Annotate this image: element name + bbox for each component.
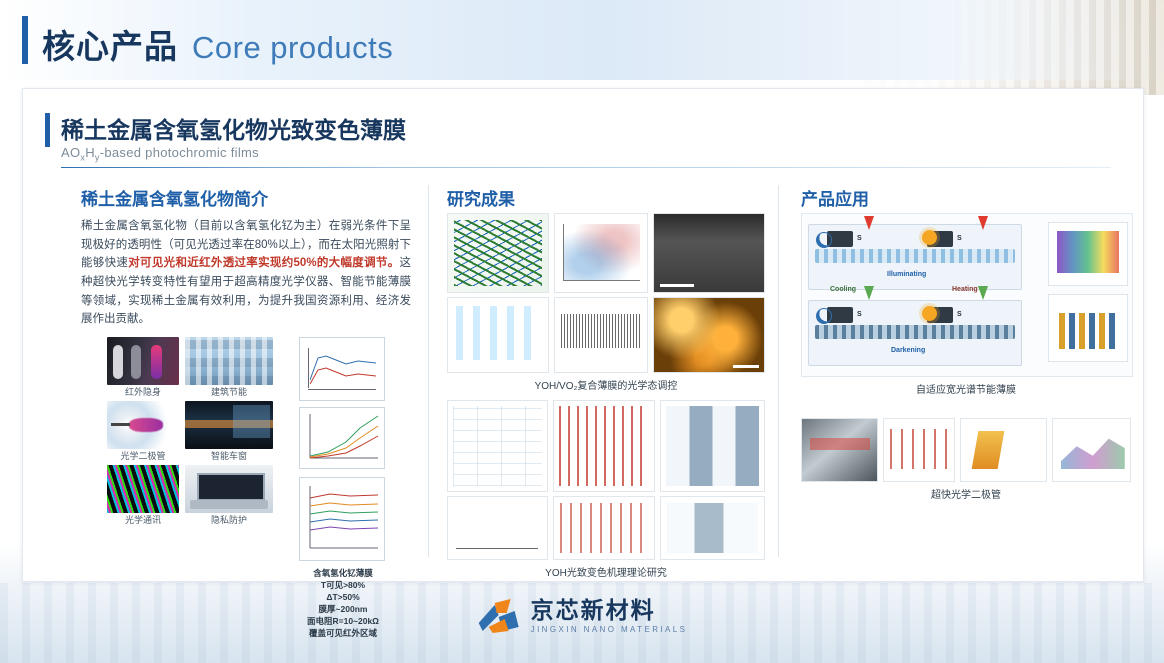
figure-transient-curves xyxy=(883,418,955,482)
mini-bar-chart xyxy=(1048,294,1128,362)
film-layer xyxy=(815,325,1015,339)
cooling-arrow-icon xyxy=(864,286,874,300)
gallery-item-privacy-protection: 隐私防护 xyxy=(185,465,273,527)
figure-afm-topography xyxy=(653,297,765,373)
application-caption-top: 自适应宽光谱节能薄膜 xyxy=(801,381,1131,396)
logo-mark-icon xyxy=(477,597,521,635)
application-figures: S S Illuminating S S Darkening xyxy=(801,213,1131,501)
gallery-caption: 光学通讯 xyxy=(107,513,179,527)
figure-uv-vis-spectra xyxy=(554,213,648,293)
logo-name-en: JINGXIN NANO MATERIALS xyxy=(531,625,688,634)
iv-curve-svg xyxy=(300,408,384,468)
gallery-caption: 红外隐身 xyxy=(107,385,179,399)
figure-band-structure-panels xyxy=(447,400,548,492)
gallery-item-optical-diode: 光学二极管 xyxy=(107,401,179,463)
multi-curve-chart xyxy=(299,477,385,561)
research-caption-top: YOH/VO₂复合薄膜的光学态调控 xyxy=(447,377,765,392)
figure-cycling-stability xyxy=(447,297,549,373)
research-row-3 xyxy=(447,400,765,492)
film-state-label-darkening: Darkening xyxy=(891,347,925,354)
gallery-row-3: 光学通讯 隐私防护 xyxy=(107,465,292,527)
moon-icon xyxy=(816,308,832,324)
film-chip-label-right: S xyxy=(957,311,962,318)
film-state-illuminating: S S Illuminating xyxy=(808,224,1022,290)
sun-icon xyxy=(922,230,937,245)
cooling-arrow-icon xyxy=(978,286,988,300)
figure-charge-density-maps xyxy=(660,400,765,492)
smart-car-window-image xyxy=(185,401,273,449)
card-divider xyxy=(61,167,1111,168)
film-chip-label-right: S xyxy=(957,235,962,242)
intro-paragraph-highlight: 对可见光和近红外透过率实现约50%的大幅度调节。 xyxy=(128,257,399,269)
gallery-caption: 智能车窗 xyxy=(185,449,273,463)
application-caption-bottom: 超快光学二极管 xyxy=(801,486,1131,501)
figure-absorption-asymmetry-diagram xyxy=(960,418,1047,482)
gallery-row-1: 红外隐身 建筑节能 xyxy=(107,337,292,399)
multi-curve-svg xyxy=(300,478,384,560)
section-title-research: 研究成果 xyxy=(447,185,515,210)
gallery-item-smart-car-window: 智能车窗 xyxy=(185,401,273,463)
moon-icon xyxy=(816,232,832,248)
gallery-item-building-energy-saving: 建筑节能 xyxy=(185,337,273,399)
application-gallery: 红外隐身 建筑节能 光学二极管 智能车窗 xyxy=(107,337,292,529)
privacy-protection-image xyxy=(185,465,273,513)
logo-text: 京芯新材料 JINGXIN NANO MATERIALS xyxy=(531,599,688,634)
card-title: 稀土金属含氧氢化物光致变色薄膜 xyxy=(61,111,406,145)
smart-film-diagram: S S Illuminating S S Darkening xyxy=(801,213,1133,377)
film-chip-label-left: S xyxy=(857,235,862,242)
logo-name-cn: 京芯新材料 xyxy=(531,599,688,622)
section-title-application: 产品应用 xyxy=(801,185,869,210)
figure-laser-setup-photo xyxy=(801,418,878,482)
card-subtitle-text: AOxHy-based photochromic films xyxy=(61,145,259,160)
figure-switching-signal xyxy=(554,297,648,373)
sun-icon xyxy=(922,306,937,321)
slide-root: 核心产品Core products 稀土金属含氧氢化物光致变色薄膜 AOxHy-… xyxy=(0,0,1164,663)
column-divider-1 xyxy=(428,185,429,557)
header-accent-bar xyxy=(22,16,28,64)
optical-communication-image xyxy=(107,465,179,513)
figure-energy-pathway xyxy=(447,496,548,560)
content-card: 稀土金属含氧氢化物光致变色薄膜 AOxHy-based photochromic… xyxy=(22,88,1144,582)
research-figures: YOH/VO₂复合薄膜的光学态调控 YOH光致变色机理理论研究 xyxy=(447,213,765,579)
film-spec-line: T可见>80% xyxy=(295,579,391,591)
card-subtitle: AOxHy-based photochromic films xyxy=(61,145,259,163)
gallery-caption: 建筑节能 xyxy=(185,385,273,399)
film-state-darkening: S S Darkening xyxy=(808,300,1022,366)
research-row-4 xyxy=(447,496,765,560)
film-state-label-illuminating: Illuminating xyxy=(887,271,926,278)
research-row-1 xyxy=(447,213,765,293)
gallery-caption: 隐私防护 xyxy=(185,513,273,527)
gallery-item-infrared-stealth: 红外隐身 xyxy=(107,337,179,399)
figure-dos-comparison xyxy=(553,496,654,560)
company-logo: 京芯新材料 JINGXIN NANO MATERIALS xyxy=(477,597,688,635)
logo-shape-svg xyxy=(477,597,521,635)
optical-diode-image xyxy=(107,401,179,449)
iv-curve-chart xyxy=(299,407,385,469)
page-title-en: Core products xyxy=(192,30,393,65)
figure-crystal-structure xyxy=(447,213,549,293)
slide-footer: 京芯新材料 JINGXIN NANO MATERIALS xyxy=(0,597,1164,649)
figure-sem-cross-section xyxy=(653,213,765,293)
section-title-intro: 稀土金属含氧氢化物简介 xyxy=(81,185,268,210)
infrared-stealth-image xyxy=(107,337,179,385)
figure-orbital-maps xyxy=(660,496,765,560)
ultrafast-diode-figures xyxy=(801,418,1131,482)
film-layer xyxy=(815,249,1015,263)
mini-spectrum-chart xyxy=(1048,222,1128,286)
label-heating: Heating xyxy=(952,286,978,293)
heat-arrow-icon xyxy=(978,216,988,230)
gallery-row-2: 光学二极管 智能车窗 xyxy=(107,401,292,463)
film-chip-label-left: S xyxy=(857,311,862,318)
label-cooling: Cooling xyxy=(830,286,856,293)
gallery-item-optical-communication: 光学通讯 xyxy=(107,465,179,527)
column-divider-2 xyxy=(778,185,779,557)
figure-dos-panels xyxy=(553,400,654,492)
film-spec-line: 含氧氢化钇薄膜 xyxy=(295,567,391,579)
figure-response-spectrum xyxy=(1052,418,1131,482)
page-title: 核心产品Core products xyxy=(42,20,393,68)
page-title-cn: 核心产品 xyxy=(42,28,178,65)
intro-paragraph: 稀土金属含氧氢化物（目前以含氧氢化钇为主）在弱光条件下呈现极好的透明性（可见光透… xyxy=(81,217,411,329)
research-caption-bottom: YOH光致变色机理理论研究 xyxy=(447,564,765,579)
slide-header: 核心产品Core products xyxy=(0,0,1164,80)
research-row-2 xyxy=(447,297,765,373)
card-accent-bar xyxy=(45,113,50,147)
building-energy-image xyxy=(185,337,273,385)
spectrum-curve-svg xyxy=(310,350,376,388)
transmittance-spectrum-chart xyxy=(299,337,385,401)
gallery-caption: 光学二极管 xyxy=(107,449,179,463)
heat-arrow-icon xyxy=(864,216,874,230)
